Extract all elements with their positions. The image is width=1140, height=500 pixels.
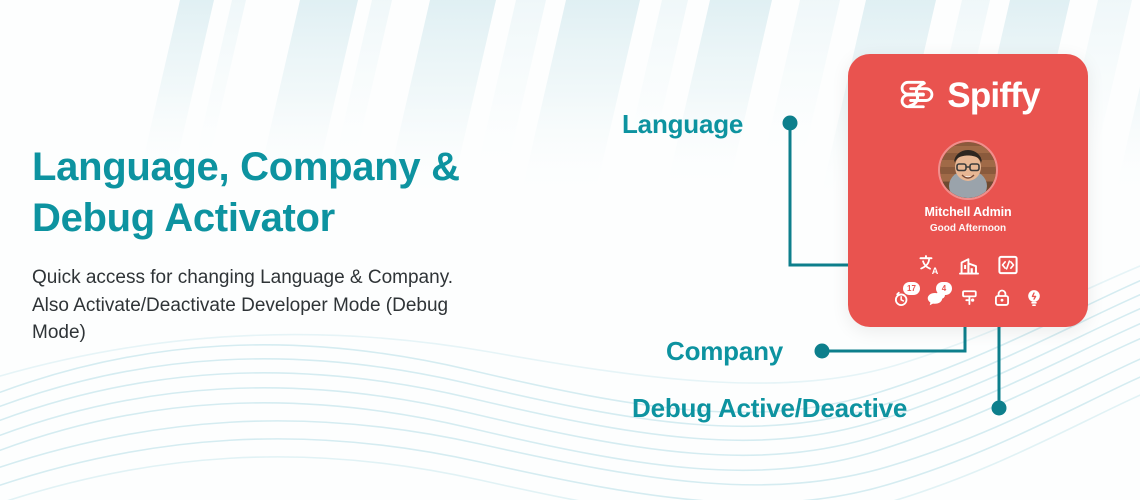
- user-greeting: Good Afternoon: [848, 223, 1088, 234]
- lock-icon[interactable]: [993, 288, 1011, 307]
- translate-icon[interactable]: A: [919, 255, 940, 275]
- primary-icon-row: A: [848, 255, 1088, 275]
- page-title: Language, Company & Debug Activator: [32, 142, 552, 244]
- connector-dot-debug: [992, 401, 1007, 416]
- connector-dot-language: [783, 116, 798, 131]
- callout-label-debug: Debug Active/Deactive: [632, 393, 907, 424]
- svg-text:A: A: [931, 266, 938, 275]
- page-subtitle: Quick access for changing Language & Com…: [32, 264, 482, 347]
- spiffy-loop-logo-icon: [896, 76, 938, 114]
- user-name: Mitchell Admin: [848, 205, 1088, 219]
- brand-name: Spiffy: [947, 78, 1039, 113]
- headline-line-2: Debug Activator: [32, 193, 552, 244]
- company-building-icon[interactable]: [959, 255, 979, 275]
- code-debug-icon[interactable]: [998, 255, 1018, 275]
- callout-label-company: Company: [666, 336, 783, 367]
- callout-label-language: Language: [622, 109, 743, 140]
- activity-clock-icon[interactable]: 17: [893, 288, 912, 307]
- messages-badge: 4: [936, 282, 952, 295]
- profile-card[interactable]: Spiffy: [848, 54, 1088, 327]
- banner-root: Language, Company & Debug Activator Quic…: [0, 0, 1140, 500]
- lightbulb-tip-icon[interactable]: [1025, 288, 1043, 307]
- connector-dot-company: [815, 344, 830, 359]
- activity-badge: 17: [903, 282, 920, 295]
- headline-line-1: Language, Company &: [32, 145, 460, 189]
- messages-chat-icon[interactable]: 4: [926, 288, 946, 307]
- filter-settings-icon[interactable]: [960, 288, 979, 307]
- brand-row: Spiffy: [848, 76, 1088, 114]
- user-avatar-photo[interactable]: [938, 140, 998, 200]
- secondary-icon-row: 17 4: [848, 288, 1088, 307]
